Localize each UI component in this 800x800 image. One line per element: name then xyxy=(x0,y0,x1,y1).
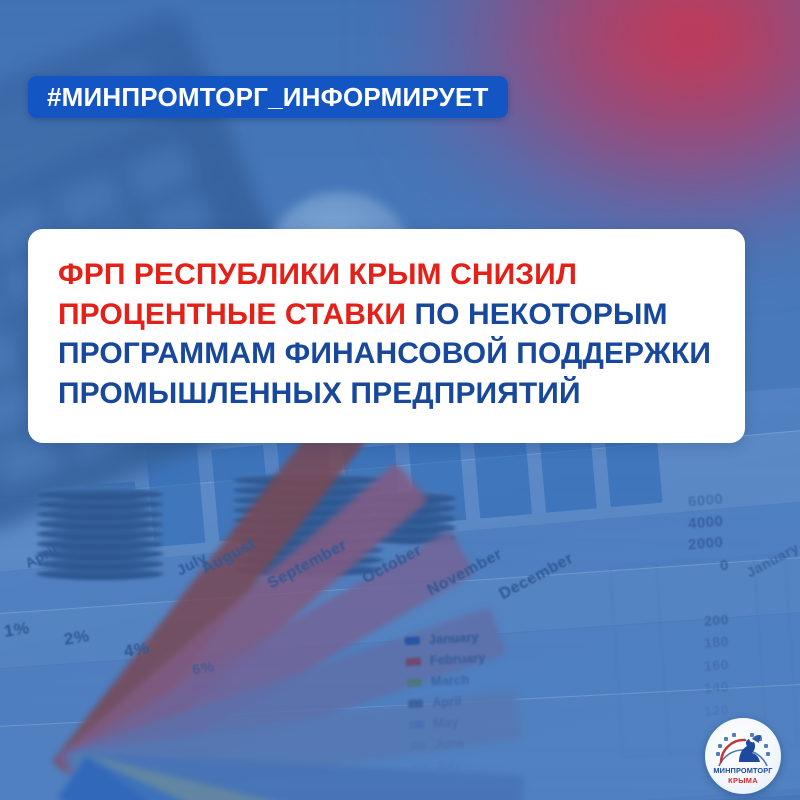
headline-card: ФРП РЕСПУБЛИКИ КРЫМ СНИЗИЛ ПРОЦЕНТНЫЕ СТ… xyxy=(28,229,745,443)
ministry-logo: МИНПРОМТОРГ КРЫМА xyxy=(705,718,781,794)
logo-subname: КРЫМА xyxy=(728,777,758,784)
red-glow-highlight xyxy=(392,0,800,264)
griffin-gear-icon xyxy=(705,722,781,770)
logo-name: МИНПРОМТОРГ xyxy=(713,767,772,774)
page-title: ФРП РЕСПУБЛИКИ КРЫМ СНИЗИЛ ПРОЦЕНТНЫЕ СТ… xyxy=(58,255,715,413)
hashtag-label: #МИНПРОМТОРГ_ИНФОРМИРУЕТ xyxy=(47,84,489,110)
hashtag-banner: #МИНПРОМТОРГ_ИНФОРМИРУЕТ xyxy=(28,76,508,118)
